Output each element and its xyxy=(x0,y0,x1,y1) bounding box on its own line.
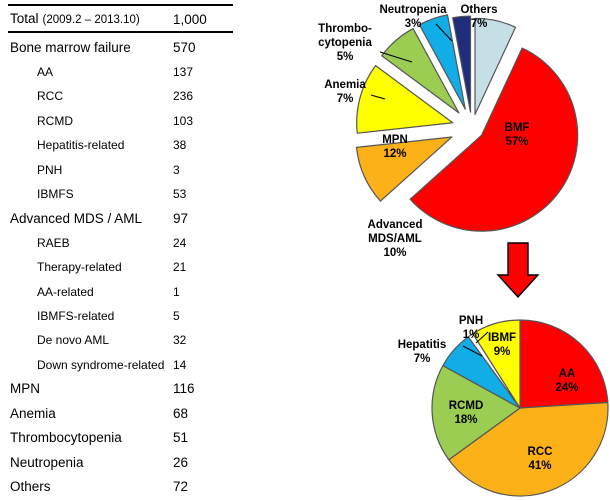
table-row-value: 3 xyxy=(173,164,180,176)
table-row: De novo AML32 xyxy=(0,327,250,354)
top-label-advanced-line2: MDS/AML xyxy=(368,233,422,245)
table-row: RAEB24 xyxy=(0,229,250,256)
top-pie-slices xyxy=(356,15,577,231)
top-label-neutropenia: Neutropenia xyxy=(379,4,447,16)
table-row-label: Bone marrow failure xyxy=(0,41,131,55)
bottom-label-aa-pct: 24% xyxy=(555,382,578,394)
table-header-value: 1,000 xyxy=(173,13,207,27)
table-row-value: 32 xyxy=(173,334,186,346)
top-label-advanced-line1: Advanced xyxy=(368,219,423,231)
bottom-label-ibmf: IBMF xyxy=(488,332,516,344)
table-row: Thrombocytopenia51 xyxy=(0,424,250,451)
table-row-label: Down syndrome-related xyxy=(0,359,164,371)
table-row-label: AA xyxy=(0,66,53,78)
table-row-value: 116 xyxy=(173,382,195,396)
top-label-anemia: Anemia xyxy=(324,79,366,91)
top-label-mpn-pct: 12% xyxy=(383,148,406,160)
table-row-value: 21 xyxy=(173,261,186,273)
table-row-label: RCMD xyxy=(0,115,73,127)
table-row: RCC236 xyxy=(0,83,250,110)
summary-table: Total (2009.2 – 2013.10) 1,000 Bone marr… xyxy=(0,0,250,500)
top-label-others-pct: 7% xyxy=(471,18,488,30)
top-label-anemia-pct: 7% xyxy=(337,93,354,105)
bottom-pie-chart: PNH 1% Hepatitis 7% IBMF 9% AA 24% RCMD … xyxy=(398,315,608,496)
table-row: Anemia68 xyxy=(0,400,250,427)
table-row-value: 14 xyxy=(173,359,186,371)
pie-charts-svg: Neutropenia 3% Others 7% Thrombo- cytope… xyxy=(250,0,610,500)
table-row-value: 68 xyxy=(173,407,188,421)
top-label-bmf-pct: 57% xyxy=(505,136,528,148)
top-label-thrombocytopenia-line2: cytopenia xyxy=(318,37,372,49)
bottom-label-pnh-pct: 1% xyxy=(463,329,480,341)
pie-slice xyxy=(520,320,608,408)
bottom-label-aa: AA xyxy=(559,368,576,380)
bottom-label-rcmd-pct: 18% xyxy=(454,414,477,426)
table-row-label: RAEB xyxy=(0,237,70,249)
table-row-value: 1 xyxy=(173,286,180,298)
top-label-others: Others xyxy=(460,4,497,16)
top-label-mpn: MPN xyxy=(382,134,408,146)
table-row: Others72 xyxy=(0,473,250,500)
table-row: PNH3 xyxy=(0,156,250,183)
table-row: AA-related1 xyxy=(0,278,250,305)
top-pie-chart: Neutropenia 3% Others 7% Thrombo- cytope… xyxy=(318,4,577,259)
table-row-value: 236 xyxy=(173,90,193,102)
table-row-value: 53 xyxy=(173,188,186,200)
bottom-label-pnh: PNH xyxy=(459,315,483,327)
table-row: Down syndrome-related14 xyxy=(0,351,250,378)
table-row: MPN116 xyxy=(0,376,250,403)
table-row: Neutropenia26 xyxy=(0,449,250,476)
table-row: RCMD103 xyxy=(0,107,250,134)
table-row-label: Hepatitis-related xyxy=(0,139,124,151)
table-row-value: 51 xyxy=(173,431,188,445)
bottom-label-ibmf-pct: 9% xyxy=(494,346,511,358)
table-row: Bone marrow failure570 xyxy=(0,34,250,61)
table-row-label: Anemia xyxy=(0,407,56,421)
table-row-label: RCC xyxy=(0,90,63,102)
table-row-value: 137 xyxy=(173,66,193,78)
table-row-label: MPN xyxy=(0,382,40,396)
top-label-neutropenia-pct: 3% xyxy=(405,18,422,30)
table-row: AA137 xyxy=(0,58,250,85)
table-header-label: Total xyxy=(10,12,39,26)
table-row: Hepatitis-related38 xyxy=(0,132,250,159)
down-arrow-icon xyxy=(498,243,538,297)
table-row-label: Thrombocytopenia xyxy=(0,431,122,445)
charts-panel: Neutropenia 3% Others 7% Thrombo- cytope… xyxy=(250,0,610,500)
table-row-label: IBMFS-related xyxy=(0,310,114,322)
table-row-label: De novo AML xyxy=(0,334,109,346)
table-row-label: AA-related xyxy=(0,286,94,298)
top-label-thrombocytopenia-line1: Thrombo- xyxy=(318,23,372,35)
top-label-thrombocytopenia-pct: 5% xyxy=(337,51,354,63)
table-row-value: 72 xyxy=(173,480,188,494)
table-row-label: PNH xyxy=(0,164,62,176)
table-row: Advanced MDS / AML97 xyxy=(0,205,250,232)
table-row-value: 97 xyxy=(173,212,188,226)
table-row: IBMFS-related5 xyxy=(0,302,250,329)
table-header-period: (2009.2 – 2013.10) xyxy=(43,15,140,27)
table-row-value: 570 xyxy=(173,41,196,55)
table-row-value: 5 xyxy=(173,310,180,322)
table-row-label: Neutropenia xyxy=(0,456,84,470)
table-row-label: Others xyxy=(0,480,51,494)
table-row-label: IBMFS xyxy=(0,188,74,200)
bottom-label-rcc: RCC xyxy=(528,446,553,458)
bottom-label-hepatitis-pct: 7% xyxy=(414,353,431,365)
table-row-value: 103 xyxy=(173,115,193,127)
table-row-label: Advanced MDS / AML xyxy=(0,212,142,226)
table-row: Therapy-related21 xyxy=(0,254,250,281)
top-label-advanced-pct: 10% xyxy=(383,247,406,259)
bottom-label-rcmd: RCMD xyxy=(449,400,484,412)
table-row-label: Therapy-related xyxy=(0,261,122,273)
table-row-value: 38 xyxy=(173,139,186,151)
table-header-row: Total (2009.2 – 2013.10) 1,000 xyxy=(0,6,250,33)
bottom-label-hepatitis: Hepatitis xyxy=(398,339,447,351)
table-row: IBMFS53 xyxy=(0,180,250,207)
table-row-value: 26 xyxy=(173,456,188,470)
top-label-bmf: BMF xyxy=(505,122,530,134)
table-row-value: 24 xyxy=(173,237,186,249)
bottom-label-rcc-pct: 41% xyxy=(528,460,551,472)
